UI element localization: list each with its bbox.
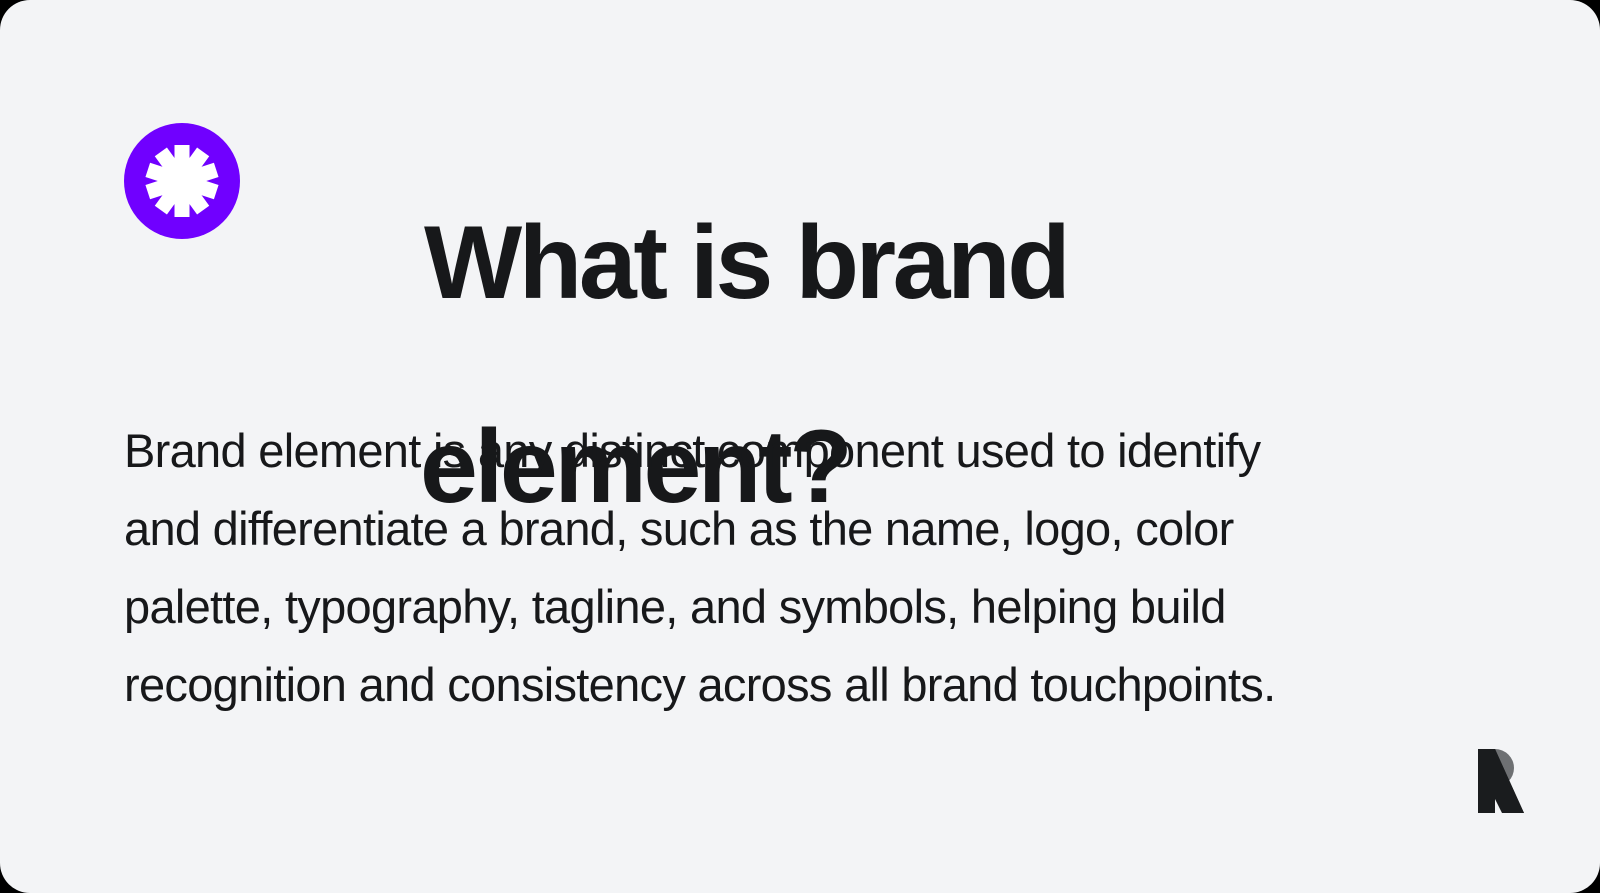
paragraph-line: recognition and consistency across all b… — [124, 646, 1454, 724]
paragraph-line: Brand element is any distinct component … — [124, 412, 1454, 490]
asterisk-icon — [145, 145, 218, 217]
screenshot-canvas: What is brand element? Brand element is … — [0, 0, 1600, 893]
definition-paragraph: Brand element is any distinct component … — [124, 412, 1454, 724]
brand-logo — [1478, 749, 1524, 813]
page-title-line-1: What is brand — [274, 213, 1464, 314]
asterisk-badge — [124, 123, 240, 239]
paragraph-line: palette, typography, tagline, and symbol… — [124, 568, 1454, 646]
paragraph-line: and differentiate a brand, such as the n… — [124, 490, 1454, 568]
letter-r-logo-icon — [1478, 749, 1524, 813]
definition-card: What is brand element? Brand element is … — [0, 0, 1600, 893]
